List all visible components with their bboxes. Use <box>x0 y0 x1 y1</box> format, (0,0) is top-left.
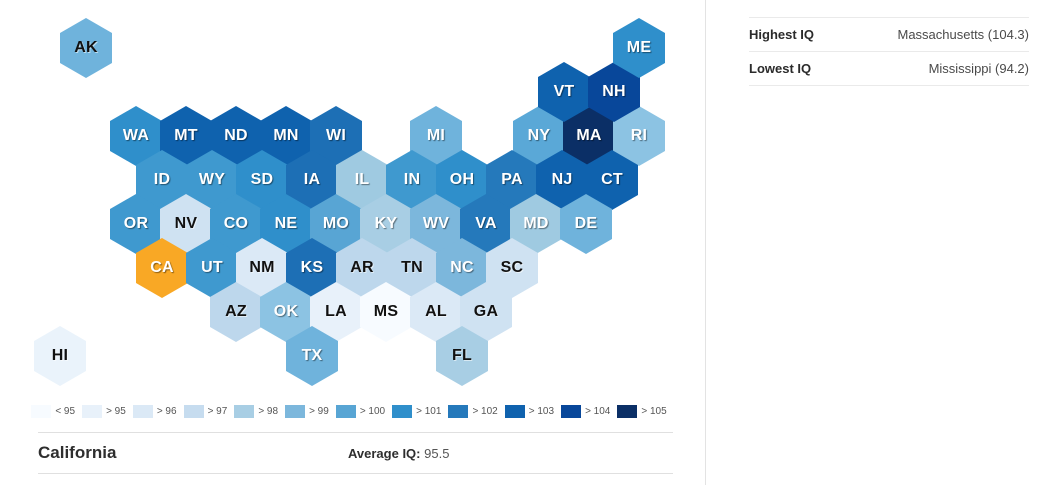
hex-state-label: MN <box>273 128 298 144</box>
legend-swatch <box>561 405 581 418</box>
hex-state-label: WI <box>326 128 346 144</box>
legend-swatch <box>133 405 153 418</box>
legend-swatch <box>505 405 525 418</box>
hex-state-label: AL <box>425 304 447 320</box>
selected-state-info-bar: California Average IQ: 95.5 <box>38 432 673 474</box>
hex-state-label: OH <box>450 172 474 188</box>
legend-item: > 98 <box>234 405 281 418</box>
hex-state-label: IL <box>355 172 370 188</box>
hex-state-label: OR <box>124 216 148 232</box>
hex-state-label: IA <box>304 172 320 188</box>
hex-state-label: HI <box>52 348 68 364</box>
hex-state-label: NY <box>528 128 551 144</box>
hex-state-ak[interactable]: AK <box>60 18 112 78</box>
hex-state-label: TX <box>302 348 323 364</box>
hex-state-label: AZ <box>225 304 247 320</box>
hex-state-label: OK <box>274 304 298 320</box>
metric-value: 95.5 <box>424 446 449 461</box>
hex-state-label: NH <box>602 84 626 100</box>
map-color-legend: < 95> 95> 96> 97> 98> 99> 100> 101> 102>… <box>0 398 705 424</box>
hex-state-label: UT <box>201 260 223 276</box>
legend-label: < 95 <box>55 406 75 417</box>
legend-swatch <box>234 405 254 418</box>
iq-extremes-table: Highest IQMassachusetts (104.3)Lowest IQ… <box>749 17 1029 86</box>
stat-label: Lowest IQ <box>749 52 842 86</box>
legend-label: > 101 <box>416 406 441 417</box>
legend-swatch <box>184 405 204 418</box>
hex-state-label: NM <box>249 260 274 276</box>
hex-state-label: DE <box>575 216 598 232</box>
hex-state-label: WV <box>423 216 449 232</box>
hex-state-label: ID <box>154 172 170 188</box>
hex-cartogram-map[interactable]: AKWAMTNDMNWIMINYMARIVTNHMEIDWYSDIAILINOH… <box>0 0 705 392</box>
hex-state-label: MO <box>323 216 349 232</box>
hex-state-label: KY <box>375 216 398 232</box>
stats-table-body: Highest IQMassachusetts (104.3)Lowest IQ… <box>749 18 1029 86</box>
legend-label: > 105 <box>641 406 666 417</box>
hex-state-label: NJ <box>552 172 573 188</box>
legend-label: > 103 <box>529 406 554 417</box>
legend-label: > 102 <box>472 406 497 417</box>
legend-item: > 95 <box>82 405 129 418</box>
hex-state-label: SC <box>501 260 524 276</box>
hex-state-label: GA <box>474 304 498 320</box>
hex-state-label: CA <box>150 260 174 276</box>
stats-table-row: Highest IQMassachusetts (104.3) <box>749 18 1029 52</box>
legend-item: > 96 <box>133 405 180 418</box>
legend-item: > 101 <box>392 405 444 418</box>
hex-state-label: WA <box>123 128 149 144</box>
stat-value: Massachusetts (104.3) <box>842 18 1029 52</box>
legend-swatch <box>82 405 102 418</box>
legend-item: > 100 <box>336 405 388 418</box>
iq-by-state-page: AKWAMTNDMNWIMINYMARIVTNHMEIDWYSDIAILINOH… <box>0 0 1037 485</box>
hex-state-label: VA <box>475 216 496 232</box>
hex-state-label: MT <box>174 128 198 144</box>
hex-state-label: WY <box>199 172 225 188</box>
legend-swatch <box>617 405 637 418</box>
hex-state-label: CO <box>224 216 248 232</box>
legend-label: > 97 <box>208 406 228 417</box>
metric-label: Average IQ: <box>348 446 421 461</box>
hex-state-label: MD <box>523 216 548 232</box>
hex-state-label: CT <box>601 172 623 188</box>
hex-state-label: AK <box>74 40 98 56</box>
hex-state-label: MI <box>427 128 445 144</box>
legend-label: > 104 <box>585 406 610 417</box>
hex-state-label: SD <box>251 172 274 188</box>
hex-state-label: PA <box>501 172 522 188</box>
stats-table-row: Lowest IQMississippi (94.2) <box>749 52 1029 86</box>
selected-state-name: California <box>38 443 116 463</box>
hex-state-label: NC <box>450 260 474 276</box>
stats-panel: Highest IQMassachusetts (104.3)Lowest IQ… <box>706 0 1037 485</box>
legend-label: > 95 <box>106 406 126 417</box>
legend-item: > 99 <box>285 405 332 418</box>
legend-label: > 100 <box>360 406 385 417</box>
stat-value: Mississippi (94.2) <box>842 52 1029 86</box>
map-panel: AKWAMTNDMNWIMINYMARIVTNHMEIDWYSDIAILINOH… <box>0 0 705 485</box>
legend-swatch <box>285 405 305 418</box>
selected-state-metric: Average IQ: 95.5 <box>348 446 449 461</box>
hex-state-label: MA <box>576 128 601 144</box>
hex-state-hi[interactable]: HI <box>34 326 86 386</box>
hex-state-label: IN <box>404 172 420 188</box>
legend-label: > 99 <box>309 406 329 417</box>
legend-swatch <box>392 405 412 418</box>
hex-state-label: ME <box>627 40 651 56</box>
hex-state-label: MS <box>374 304 398 320</box>
hex-state-label: LA <box>325 304 347 320</box>
legend-item: < 95 <box>31 405 78 418</box>
legend-item: > 102 <box>448 405 500 418</box>
legend-item: > 97 <box>184 405 231 418</box>
legend-item: > 104 <box>561 405 613 418</box>
legend-swatch <box>31 405 51 418</box>
hex-state-label: TN <box>401 260 423 276</box>
hex-state-label: AR <box>350 260 374 276</box>
hex-state-label: ND <box>224 128 248 144</box>
hex-state-label: RI <box>631 128 647 144</box>
stat-label: Highest IQ <box>749 18 842 52</box>
legend-swatch <box>336 405 356 418</box>
hex-state-label: KS <box>301 260 324 276</box>
legend-label: > 96 <box>157 406 177 417</box>
hex-state-label: NV <box>175 216 198 232</box>
hex-state-label: FL <box>452 348 472 364</box>
legend-label: > 98 <box>258 406 278 417</box>
legend-item: > 105 <box>617 405 669 418</box>
hex-state-label: VT <box>554 84 575 100</box>
legend-swatch <box>448 405 468 418</box>
legend-item: > 103 <box>505 405 557 418</box>
hex-state-label: NE <box>275 216 298 232</box>
